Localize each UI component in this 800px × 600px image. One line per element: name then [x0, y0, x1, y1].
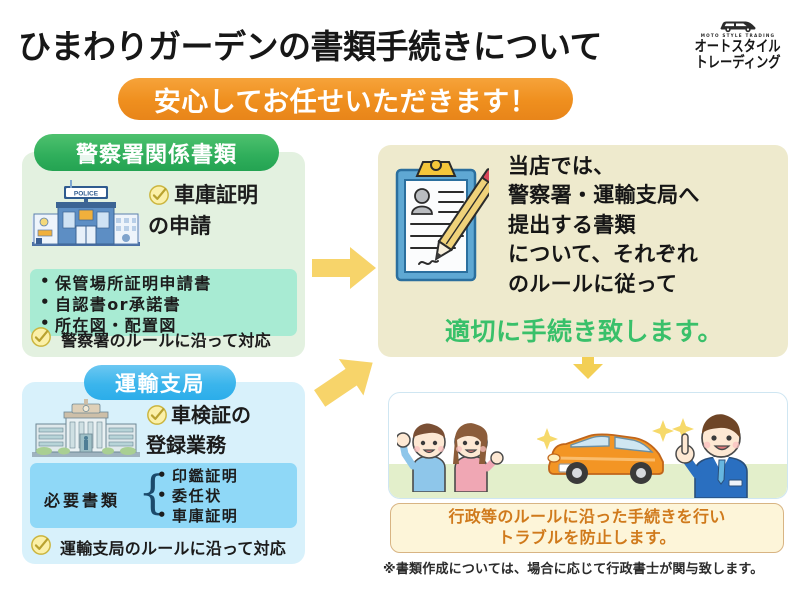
company-logo: MOTO STYLE TRADING オートスタイル トレーディング	[684, 18, 792, 80]
transport-footer: 運輸支局のルールに沿って対応	[30, 534, 286, 560]
check-circle-icon	[30, 326, 52, 352]
transport-panel-badge-label: 運輸支局	[115, 368, 205, 398]
car-icon	[718, 18, 758, 33]
orange-car-icon	[537, 414, 677, 486]
check-circle-icon	[146, 404, 168, 432]
main-statement-line: のルールに従って	[508, 270, 788, 299]
required-documents-label: 必要書類	[44, 487, 120, 511]
illustration-panel	[388, 392, 788, 499]
police-panel-badge: 警察署関係書類	[34, 134, 279, 171]
check-circle-icon	[30, 534, 52, 560]
callout-line-1: 行政等のルールに沿った手続きを行い	[448, 507, 725, 528]
list-item: 印鑑証明	[157, 467, 238, 487]
assurance-banner-text: 安心してお任せいただきます！	[154, 80, 537, 119]
transport-heading-line-1: 車検証の	[146, 402, 301, 432]
required-documents-box: 必要書類 { 印鑑証明 委任状 車庫証明	[30, 463, 297, 528]
main-statement-highlight: 適切に手続き致します。	[388, 312, 780, 348]
police-heading-line-2: の申請	[148, 213, 298, 240]
transport-heading-text-1: 車検証の	[171, 403, 251, 427]
transport-heading: 車検証の 登録業務	[146, 402, 301, 458]
transport-footer-text: 運輸支局のルールに沿って対応	[60, 535, 286, 559]
callout-line-2: トラブルを防止します。	[498, 528, 676, 549]
main-statement-line: 提出する書類	[508, 211, 788, 240]
police-footer-text: 警察署のルールに沿って対応	[61, 327, 271, 351]
arrow-right-icon	[312, 245, 378, 291]
main-statement-line: 警察署・運輸支局へ	[508, 181, 788, 210]
transport-heading-line-2: 登録業務	[146, 432, 301, 458]
main-statement-line: について、それぞれ	[508, 240, 788, 269]
required-documents-list: 印鑑証明 委任状 車庫証明	[157, 467, 238, 526]
police-station-icon: POLICE	[30, 176, 142, 248]
infographic-root: ひまわりガーデンの書類手続きについて MOTO STYLE TRADING オー…	[0, 0, 800, 600]
police-heading: 車庫証明 の申請	[148, 182, 298, 240]
list-item: 保管場所証明申請書	[40, 273, 297, 294]
list-item: 委任状	[157, 487, 238, 507]
government-building-icon	[30, 398, 142, 460]
police-heading-line-1: 車庫証明	[148, 182, 298, 213]
police-heading-text-1: 車庫証明	[174, 183, 258, 207]
transport-panel-badge: 運輸支局	[84, 365, 236, 400]
main-statement-line: 当店では、	[508, 152, 788, 181]
assurance-banner: 安心してお任せいただきます！	[118, 78, 573, 120]
salesman-icon	[669, 400, 781, 498]
page-title: ひまわりガーデンの書類手続きについて	[18, 18, 678, 70]
happy-couple-icon	[397, 408, 509, 492]
check-circle-icon	[148, 184, 170, 213]
police-footer: 警察署のルールに沿って対応	[30, 326, 271, 352]
list-item: 自認書or承諾書	[40, 294, 297, 315]
clipboard-pencil-icon	[393, 160, 489, 295]
svg-text:POLICE: POLICE	[74, 191, 99, 198]
arrow-up-right-icon	[312, 350, 382, 410]
police-panel-badge-label: 警察署関係書類	[76, 137, 237, 169]
footnote: ※書類作成については、場合に応じて行政書士が関与致します。	[383, 558, 793, 577]
list-item: 車庫証明	[157, 507, 238, 527]
logo-line-2: トレーディング	[695, 55, 780, 70]
main-statement-text: 当店では、 警察署・運輸支局へ 提出する書類 について、それぞれ のルールに従っ…	[508, 152, 788, 299]
callout-box: 行政等のルールに沿った手続きを行い トラブルを防止します。	[390, 503, 784, 553]
